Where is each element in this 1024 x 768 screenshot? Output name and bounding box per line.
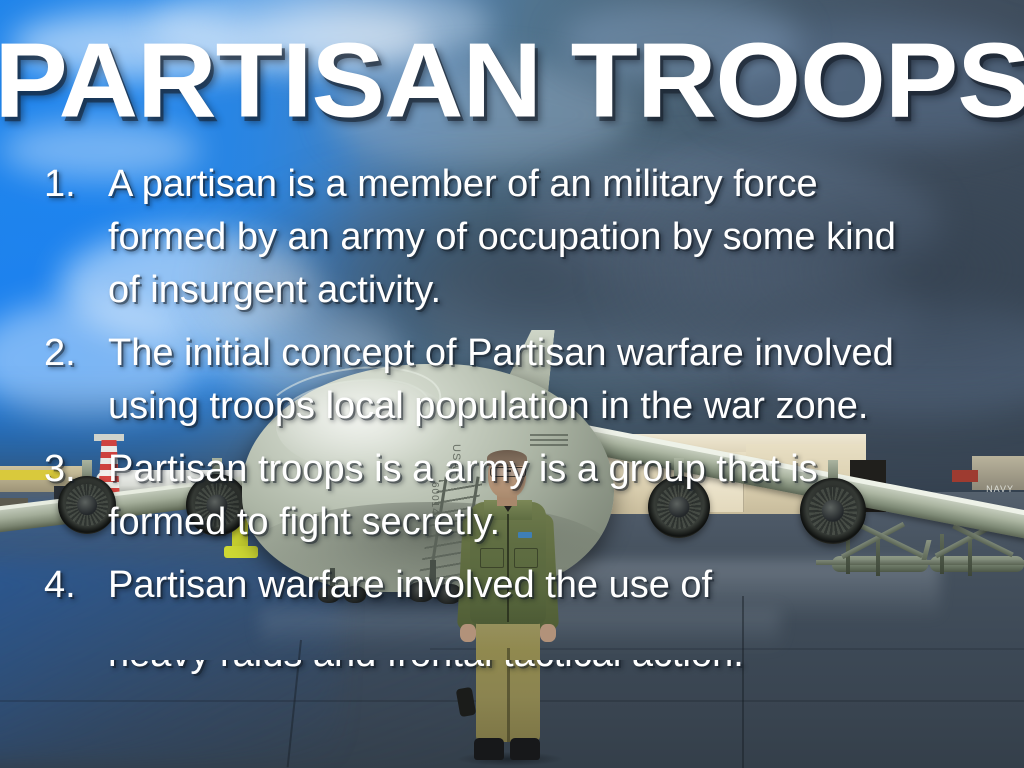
bullet-number: 2. [44,327,108,380]
bullet-text: A partisan is a member of an military fo… [108,158,924,317]
clipped-overflow-text-line: heavy raids and frontal tactical action. [108,660,968,681]
bullet-number: 3. [44,443,108,496]
presentation-slide: NAVY USAF 60014 [0,0,1024,768]
list-item: 1. A partisan is a member of an military… [44,158,924,317]
bullet-text: Partisan troops is a army is a group tha… [108,443,924,549]
list-item: 4. Partisan warfare involved the use of [44,559,924,612]
list-item: 3. Partisan troops is a army is a group … [44,443,924,549]
bullet-number: 4. [44,559,108,612]
bullet-number: 1. [44,158,108,211]
clipped-overflow-text: heavy raids and frontal tactical action. [108,660,968,768]
bullet-list: 1. A partisan is a member of an military… [44,158,924,622]
slide-text-layer: PARTISAN TROOPS 1. A partisan is a membe… [0,0,1024,768]
bullet-text: Partisan warfare involved the use of [108,559,908,612]
page-title: PARTISAN TROOPS [0,28,1024,134]
list-item: 2. The initial concept of Partisan warfa… [44,327,924,433]
bullet-text: The initial concept of Partisan warfare … [108,327,924,433]
